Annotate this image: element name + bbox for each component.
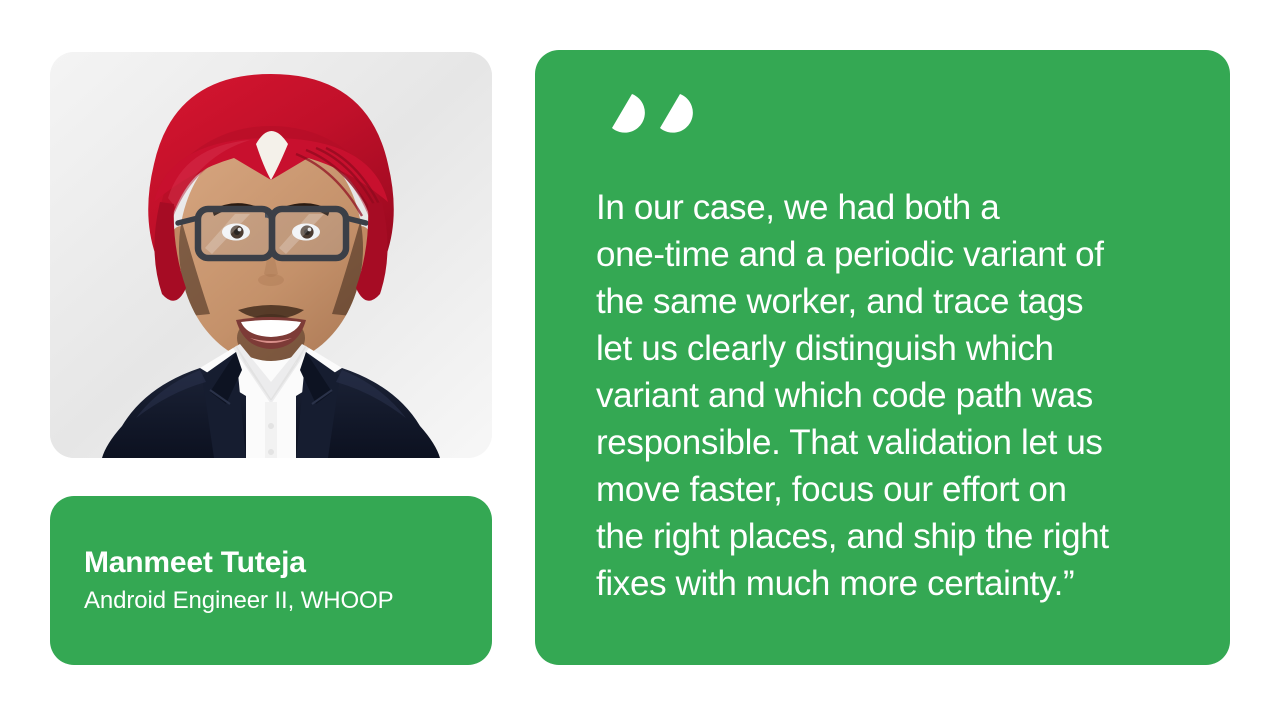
quote-text: In our case, we had both a one-time and … (596, 184, 1172, 607)
quote-line: variant and which code path was (596, 372, 1172, 419)
person-name: Manmeet Tuteja (84, 544, 458, 582)
portrait-photo (50, 52, 492, 458)
portrait-photo-card (50, 52, 492, 458)
quote-line: responsible. That validation let us (596, 419, 1172, 466)
quote-line: the right places, and ship the right (596, 513, 1172, 560)
quote-line: the same worker, and trace tags (596, 278, 1172, 325)
quote-line: move faster, focus our effort on (596, 466, 1172, 513)
person-role: Android Engineer II, WHOOP (84, 585, 458, 617)
quote-line: let us clearly distinguish which (596, 325, 1172, 372)
quote-line: one-time and a periodic variant of (596, 231, 1172, 278)
person-name-card: Manmeet Tuteja Android Engineer II, WHOO… (50, 496, 492, 665)
quotation-mark-icon (596, 90, 696, 162)
quote-line: fixes with much more certainty.” (596, 560, 1172, 607)
quote-card: In our case, we had both a one-time and … (535, 50, 1230, 665)
testimonial-stage: Manmeet Tuteja Android Engineer II, WHOO… (0, 0, 1280, 720)
quote-line: In our case, we had both a (596, 184, 1172, 231)
